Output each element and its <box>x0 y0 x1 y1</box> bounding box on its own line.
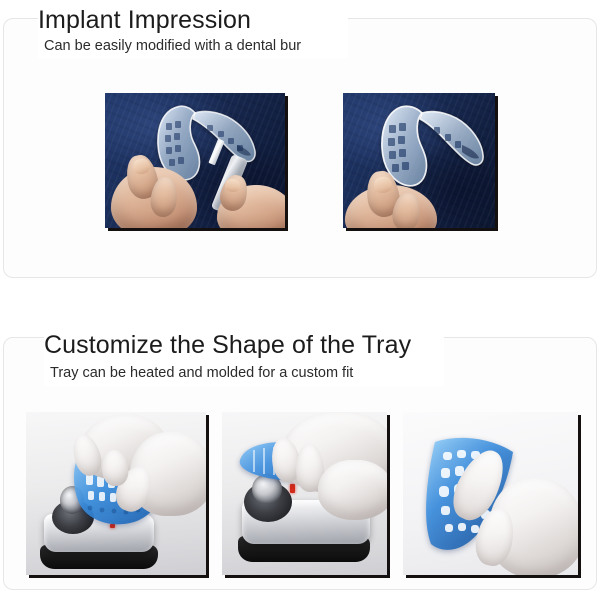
page-title-customize-shape: Customize the Shape of the Tray <box>44 326 444 361</box>
photo-tray-modified <box>343 93 495 228</box>
photo-heating-tray-content <box>26 412 206 575</box>
photo-molding-tray <box>222 412 387 575</box>
photo-flexing-tray <box>403 412 578 575</box>
photo-heating-tray <box>26 412 206 575</box>
photo-flexing-tray-content <box>403 412 578 575</box>
product-feature-page: Implant Impression Can be easily modifie… <box>0 0 600 600</box>
heading-implant-impression: Implant Impression Can be easily modifie… <box>38 2 348 58</box>
photo-tray-modified-content <box>343 93 495 228</box>
photo-molding-tray-content <box>222 412 387 575</box>
subtitle-implant-impression: Can be easily modified with a dental bur <box>38 35 348 56</box>
heading-customize-shape: Customize the Shape of the Tray Tray can… <box>44 326 444 386</box>
subtitle-customize-shape: Tray can be heated and molded for a cust… <box>44 361 444 383</box>
gloved-palm <box>318 460 387 520</box>
photo-tray-with-bur <box>105 93 285 228</box>
photo-tray-with-bur-content <box>105 93 285 228</box>
page-title-implant-impression: Implant Impression <box>38 2 348 35</box>
